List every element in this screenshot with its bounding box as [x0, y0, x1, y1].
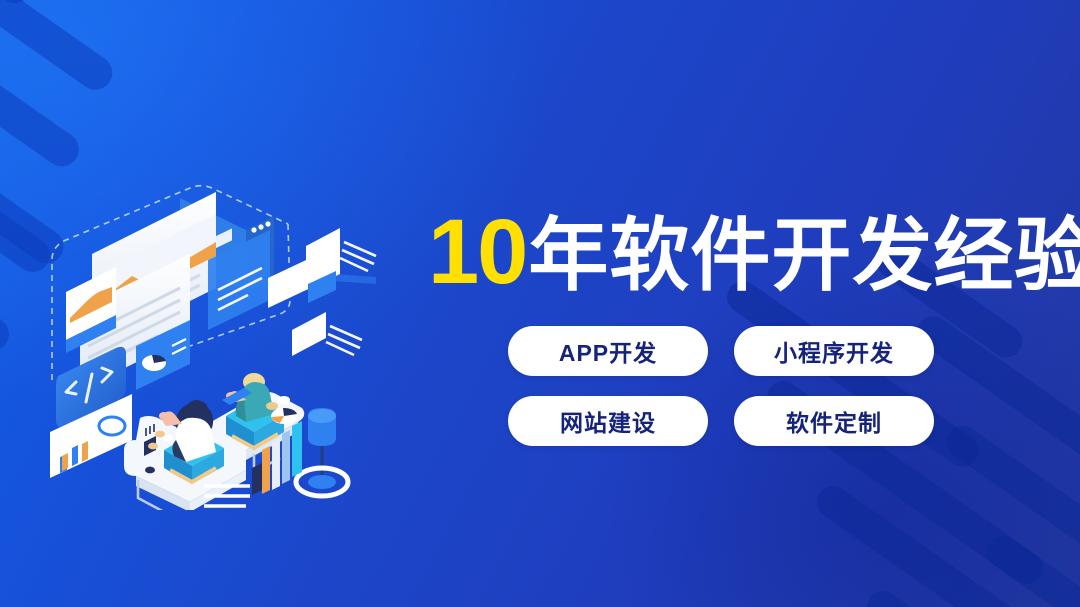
headline-number: 10 [428, 206, 526, 298]
text-list-cards [268, 228, 376, 356]
service-pill-miniprogram[interactable]: 小程序开发 [734, 326, 934, 376]
isometric-illustration [40, 150, 440, 510]
floor-lamp [296, 408, 348, 496]
page-title: 10 年软件开发经验 [428, 206, 1080, 298]
service-pill-website[interactable]: 网站建设 [508, 396, 708, 446]
service-pill-custom-software[interactable]: 软件定制 [734, 396, 934, 446]
promo-banner: 10 年软件开发经验 APP开发 小程序开发 网站建设 软件定制 [0, 0, 1080, 607]
service-pill-app[interactable]: APP开发 [508, 326, 708, 376]
service-pill-grid: APP开发 小程序开发 网站建设 软件定制 [508, 326, 934, 446]
headline-text: 年软件开发经验 [528, 216, 1080, 296]
